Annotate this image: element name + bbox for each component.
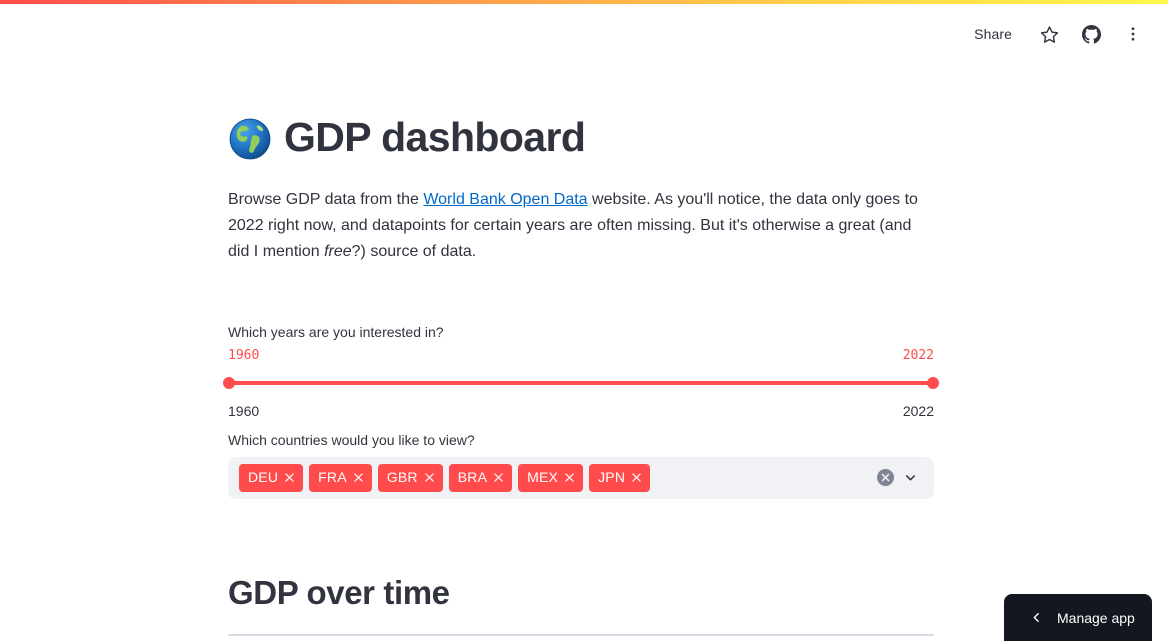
country-tag-label: JPN xyxy=(598,467,625,488)
selected-country-tags: DEU FRA GBR xyxy=(239,464,877,492)
country-tag[interactable]: MEX xyxy=(518,464,583,492)
year-slider-widget: Which years are you interested in? 1960 … xyxy=(228,321,934,411)
slider-selected-min: 1960 xyxy=(228,349,259,362)
country-tag[interactable]: BRA xyxy=(449,464,512,492)
close-icon[interactable] xyxy=(424,471,435,484)
world-bank-open-data-link[interactable]: World Bank Open Data xyxy=(423,191,587,208)
clear-circle-icon[interactable] xyxy=(877,469,894,486)
slider-track-wrap[interactable] xyxy=(228,372,934,394)
close-icon[interactable] xyxy=(564,471,575,484)
slider-thumb-min[interactable] xyxy=(223,377,235,389)
intro-description: Browse GDP data from the World Bank Open… xyxy=(228,187,928,265)
country-multiselect-widget: Which countries would you like to view? … xyxy=(228,429,934,498)
page-title-text: GDP dashboard xyxy=(284,114,585,161)
country-tag-label: MEX xyxy=(527,467,558,488)
section-heading-gdp-over-time: GDP over time xyxy=(228,573,934,613)
slider-selected-values: 1960 2022 xyxy=(228,349,934,367)
slider-bounds: 1960 2022 xyxy=(228,402,934,422)
description-part-3: ?) source of data. xyxy=(352,243,477,260)
close-icon[interactable] xyxy=(353,471,364,484)
manage-app-button[interactable]: Manage app xyxy=(1004,594,1152,641)
slider-bound-min: 1960 xyxy=(228,402,259,422)
chevron-down-icon[interactable] xyxy=(901,469,919,487)
app-main: GDP dashboard Browse GDP data from the W… xyxy=(0,0,1168,641)
manage-app-label: Manage app xyxy=(1057,610,1135,626)
description-emphasis: free xyxy=(324,243,352,260)
content-column: GDP dashboard Browse GDP data from the W… xyxy=(228,86,934,636)
slider-bound-max: 2022 xyxy=(903,402,934,422)
country-tag[interactable]: FRA xyxy=(309,464,372,492)
country-tag-label: BRA xyxy=(458,467,487,488)
slider-track[interactable] xyxy=(228,381,934,385)
page-title: GDP dashboard xyxy=(228,86,934,161)
country-tag[interactable]: JPN xyxy=(589,464,650,492)
globe-svg xyxy=(228,117,272,161)
close-icon[interactable] xyxy=(631,471,642,484)
multiselect-actions xyxy=(877,469,925,487)
country-select-label: Which countries would you like to view? xyxy=(228,429,934,451)
chevron-left-icon xyxy=(1030,611,1043,624)
close-icon[interactable] xyxy=(493,471,504,484)
description-part-1: Browse GDP data from the xyxy=(228,191,423,208)
slider-thumb-max[interactable] xyxy=(927,377,939,389)
year-slider[interactable]: 1960 2022 1960 2022 xyxy=(228,349,934,411)
country-tag-label: FRA xyxy=(318,467,347,488)
country-tag-label: GBR xyxy=(387,467,418,488)
section-divider xyxy=(228,634,934,636)
year-slider-label: Which years are you interested in? xyxy=(228,321,934,343)
slider-selected-max: 2022 xyxy=(903,349,934,362)
globe-icon xyxy=(228,115,272,161)
country-tag-label: DEU xyxy=(248,467,278,488)
country-tag[interactable]: GBR xyxy=(378,464,443,492)
country-tag[interactable]: DEU xyxy=(239,464,303,492)
close-icon[interactable] xyxy=(284,471,295,484)
country-multiselect[interactable]: DEU FRA GBR xyxy=(228,457,934,499)
